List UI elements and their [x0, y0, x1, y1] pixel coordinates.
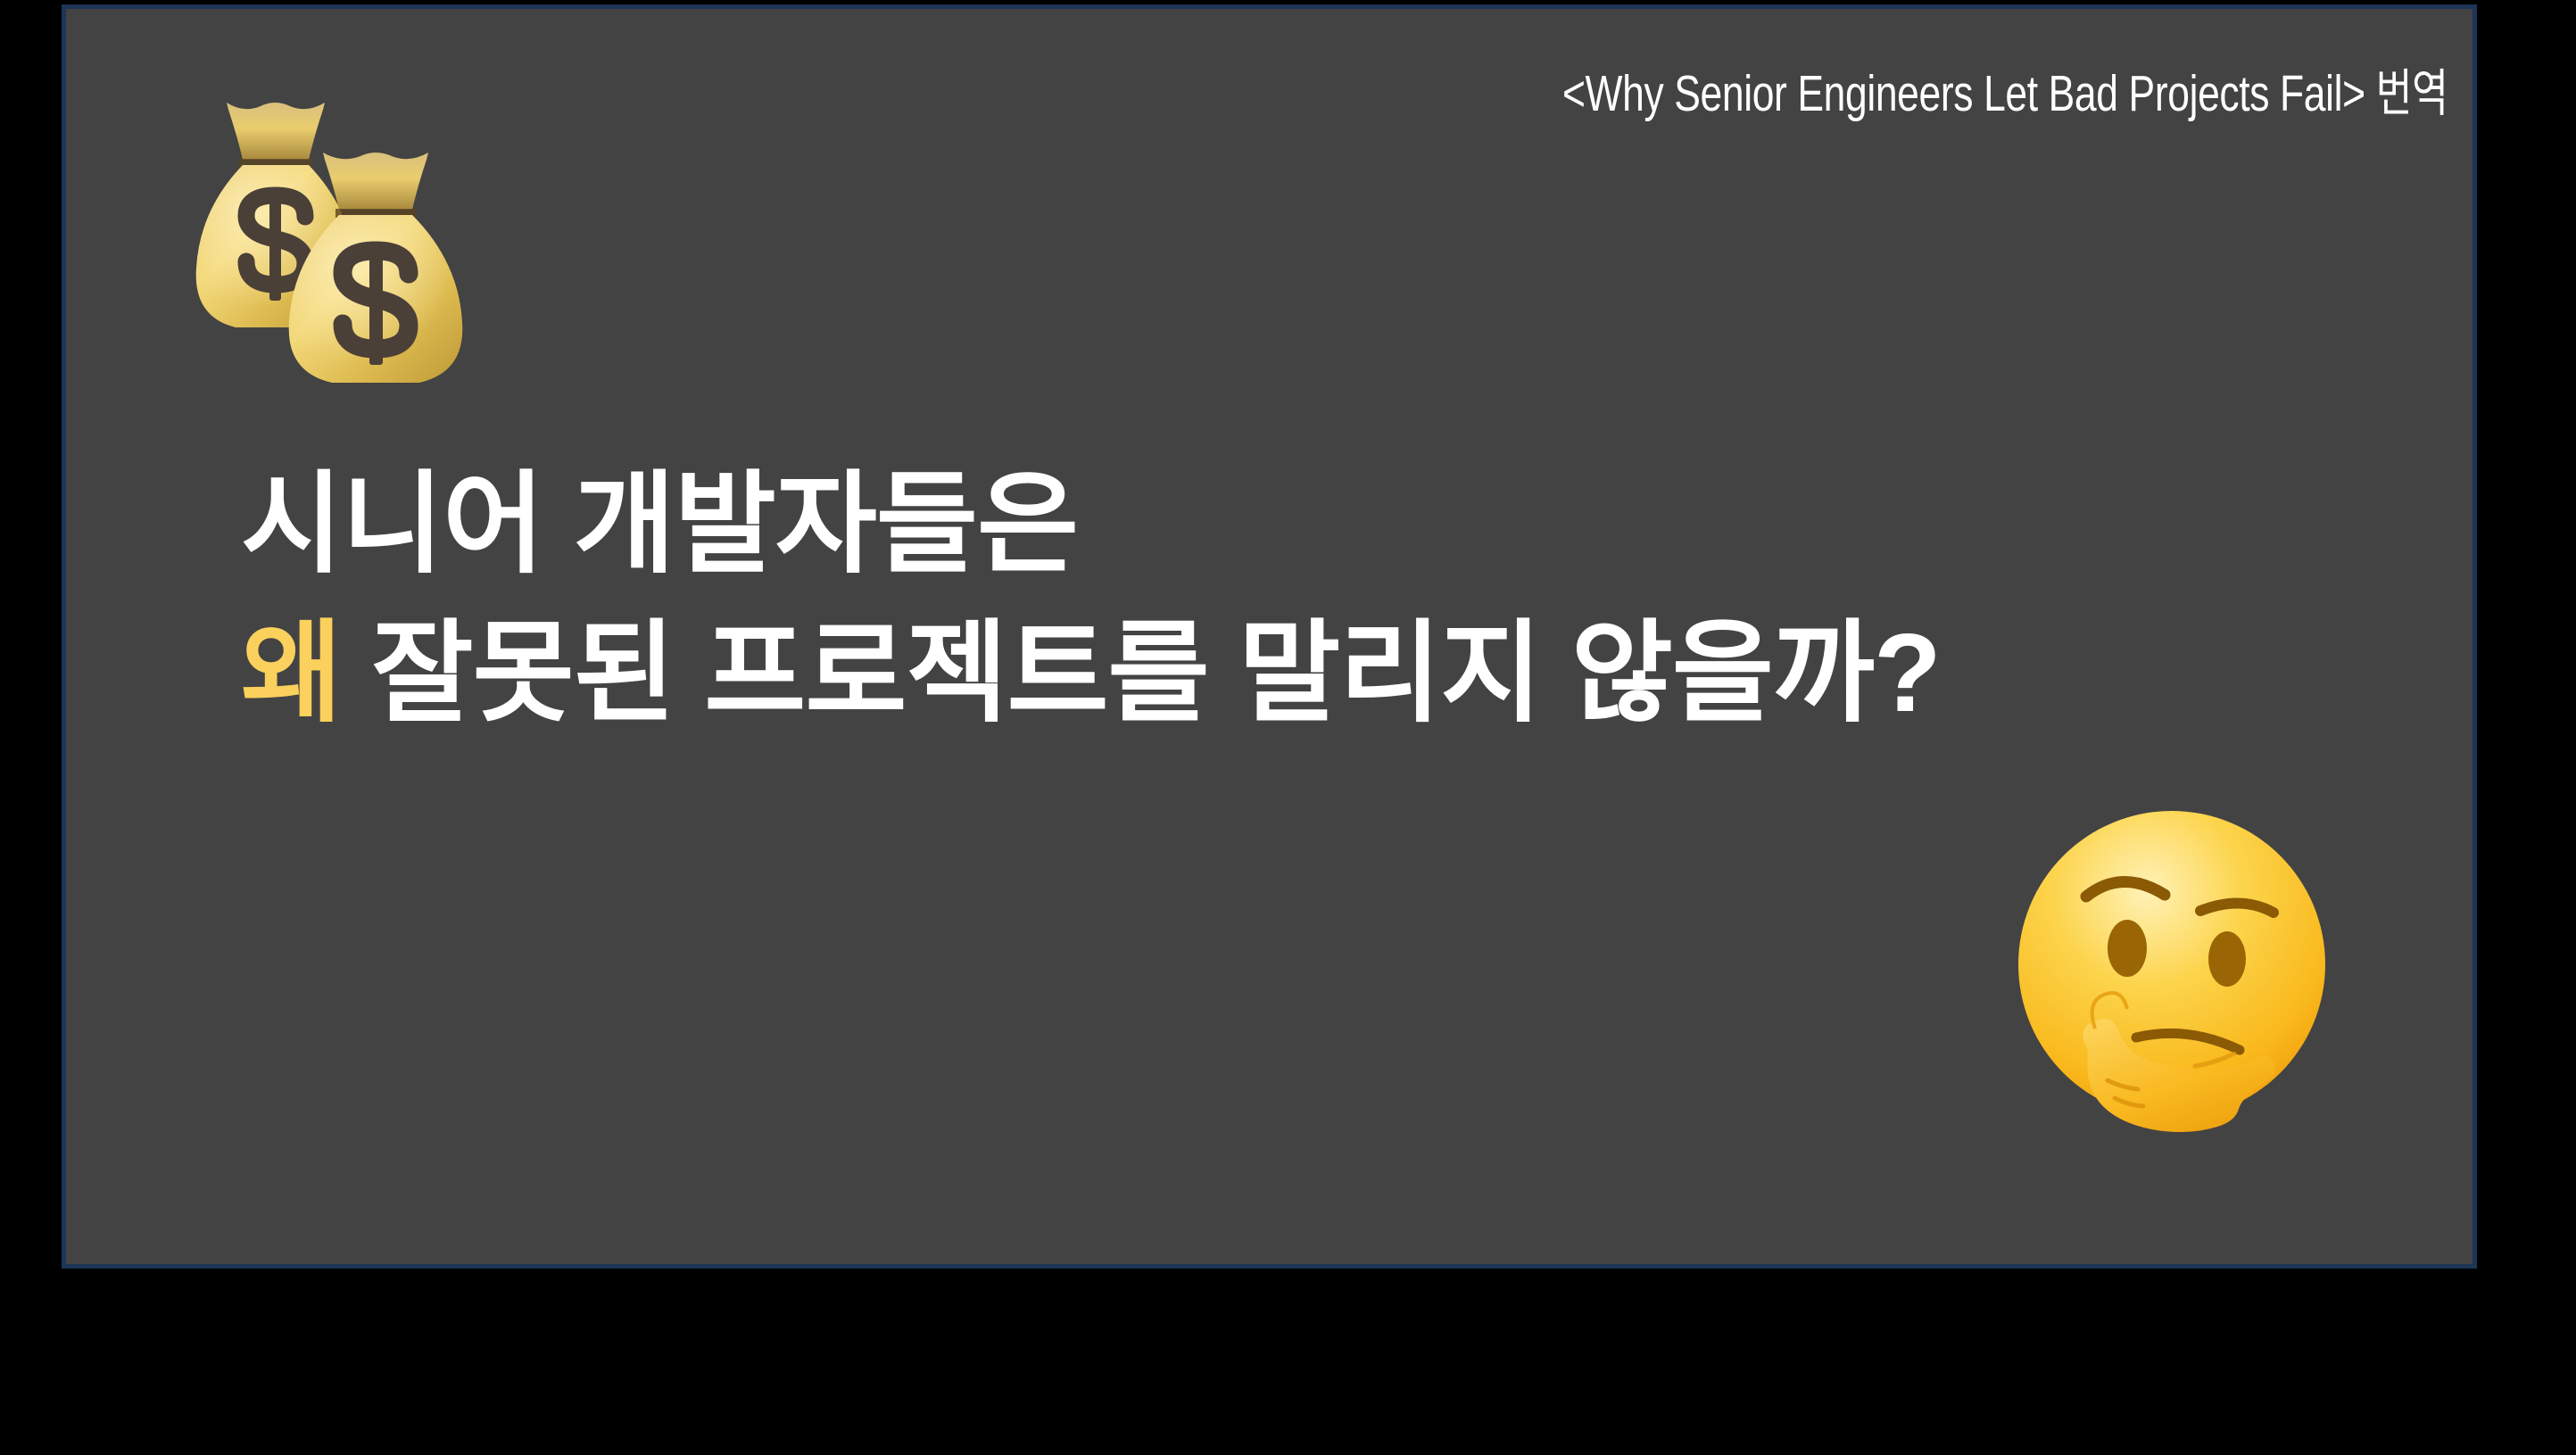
slide-frame: <Why Senior Engineers Let Bad Projects F…	[62, 4, 2477, 1269]
money-bag-emoji	[173, 67, 530, 406]
headline-line-2-rest: 잘못된 프로젝트를 말리지 않을까?	[342, 612, 1941, 735]
slide-surface: <Why Senior Engineers Let Bad Projects F…	[66, 9, 2472, 1264]
thinking-face-emoji	[2002, 798, 2341, 1137]
slide-headline: 시니어 개발자들은 왜 잘못된 프로젝트를 말리지 않을까?	[241, 451, 2293, 749]
headline-line-1: 시니어 개발자들은	[241, 451, 2293, 599]
headline-line-2: 왜 잘못된 프로젝트를 말리지 않을까?	[241, 599, 2293, 748]
screen-canvas: <Why Senior Engineers Let Bad Projects F…	[0, 0, 2576, 1455]
source-attribution-text: <Why Senior Engineers Let Bad Projects F…	[1562, 69, 2448, 120]
headline-accent-word: 왜	[241, 612, 342, 735]
